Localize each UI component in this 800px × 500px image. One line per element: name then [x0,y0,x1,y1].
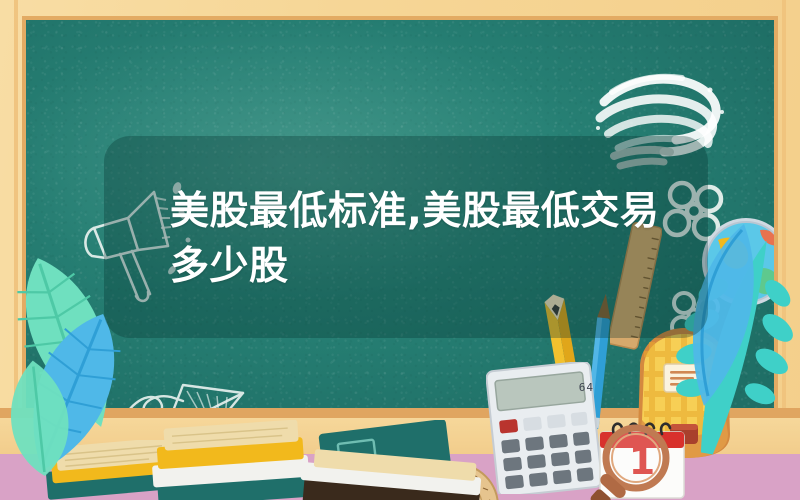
page-title: 美股最低标准,美股最低交易多少股 [170,184,664,295]
article-banner: 64 1 [0,0,800,500]
title-overlay-panel: 美股最低标准,美股最低交易多少股 [104,136,708,338]
desk-surface [0,408,800,500]
desk-edge [0,408,800,418]
desk-top [0,418,800,454]
desk-front [0,454,800,500]
